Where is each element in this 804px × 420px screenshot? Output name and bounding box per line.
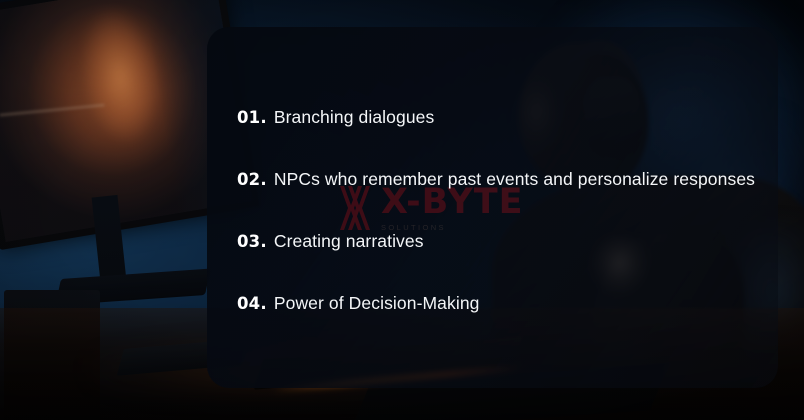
feature-label-2: NPCs who remember past events and person… [274,169,755,190]
feature-index-2: 02. [237,170,267,189]
feature-list: 01. Branching dialogues 02. NPCs who rem… [237,27,777,388]
feature-item-1: 01. Branching dialogues [237,107,777,128]
feature-index-1: 01. [237,108,267,127]
feature-index-4: 04. [237,294,267,313]
feature-item-2: 02. NPCs who remember past events and pe… [237,169,777,190]
feature-label-4: Power of Decision-Making [274,293,480,314]
feature-item-4: 04. Power of Decision-Making [237,293,777,314]
banner-scene: X-BYTE SOLUTIONS 01. Branching dialogues… [0,0,804,420]
feature-label-3: Creating narratives [274,231,424,252]
feature-label-1: Branching dialogues [274,107,435,128]
feature-index-3: 03. [237,232,267,251]
feature-item-3: 03. Creating narratives [237,231,777,252]
